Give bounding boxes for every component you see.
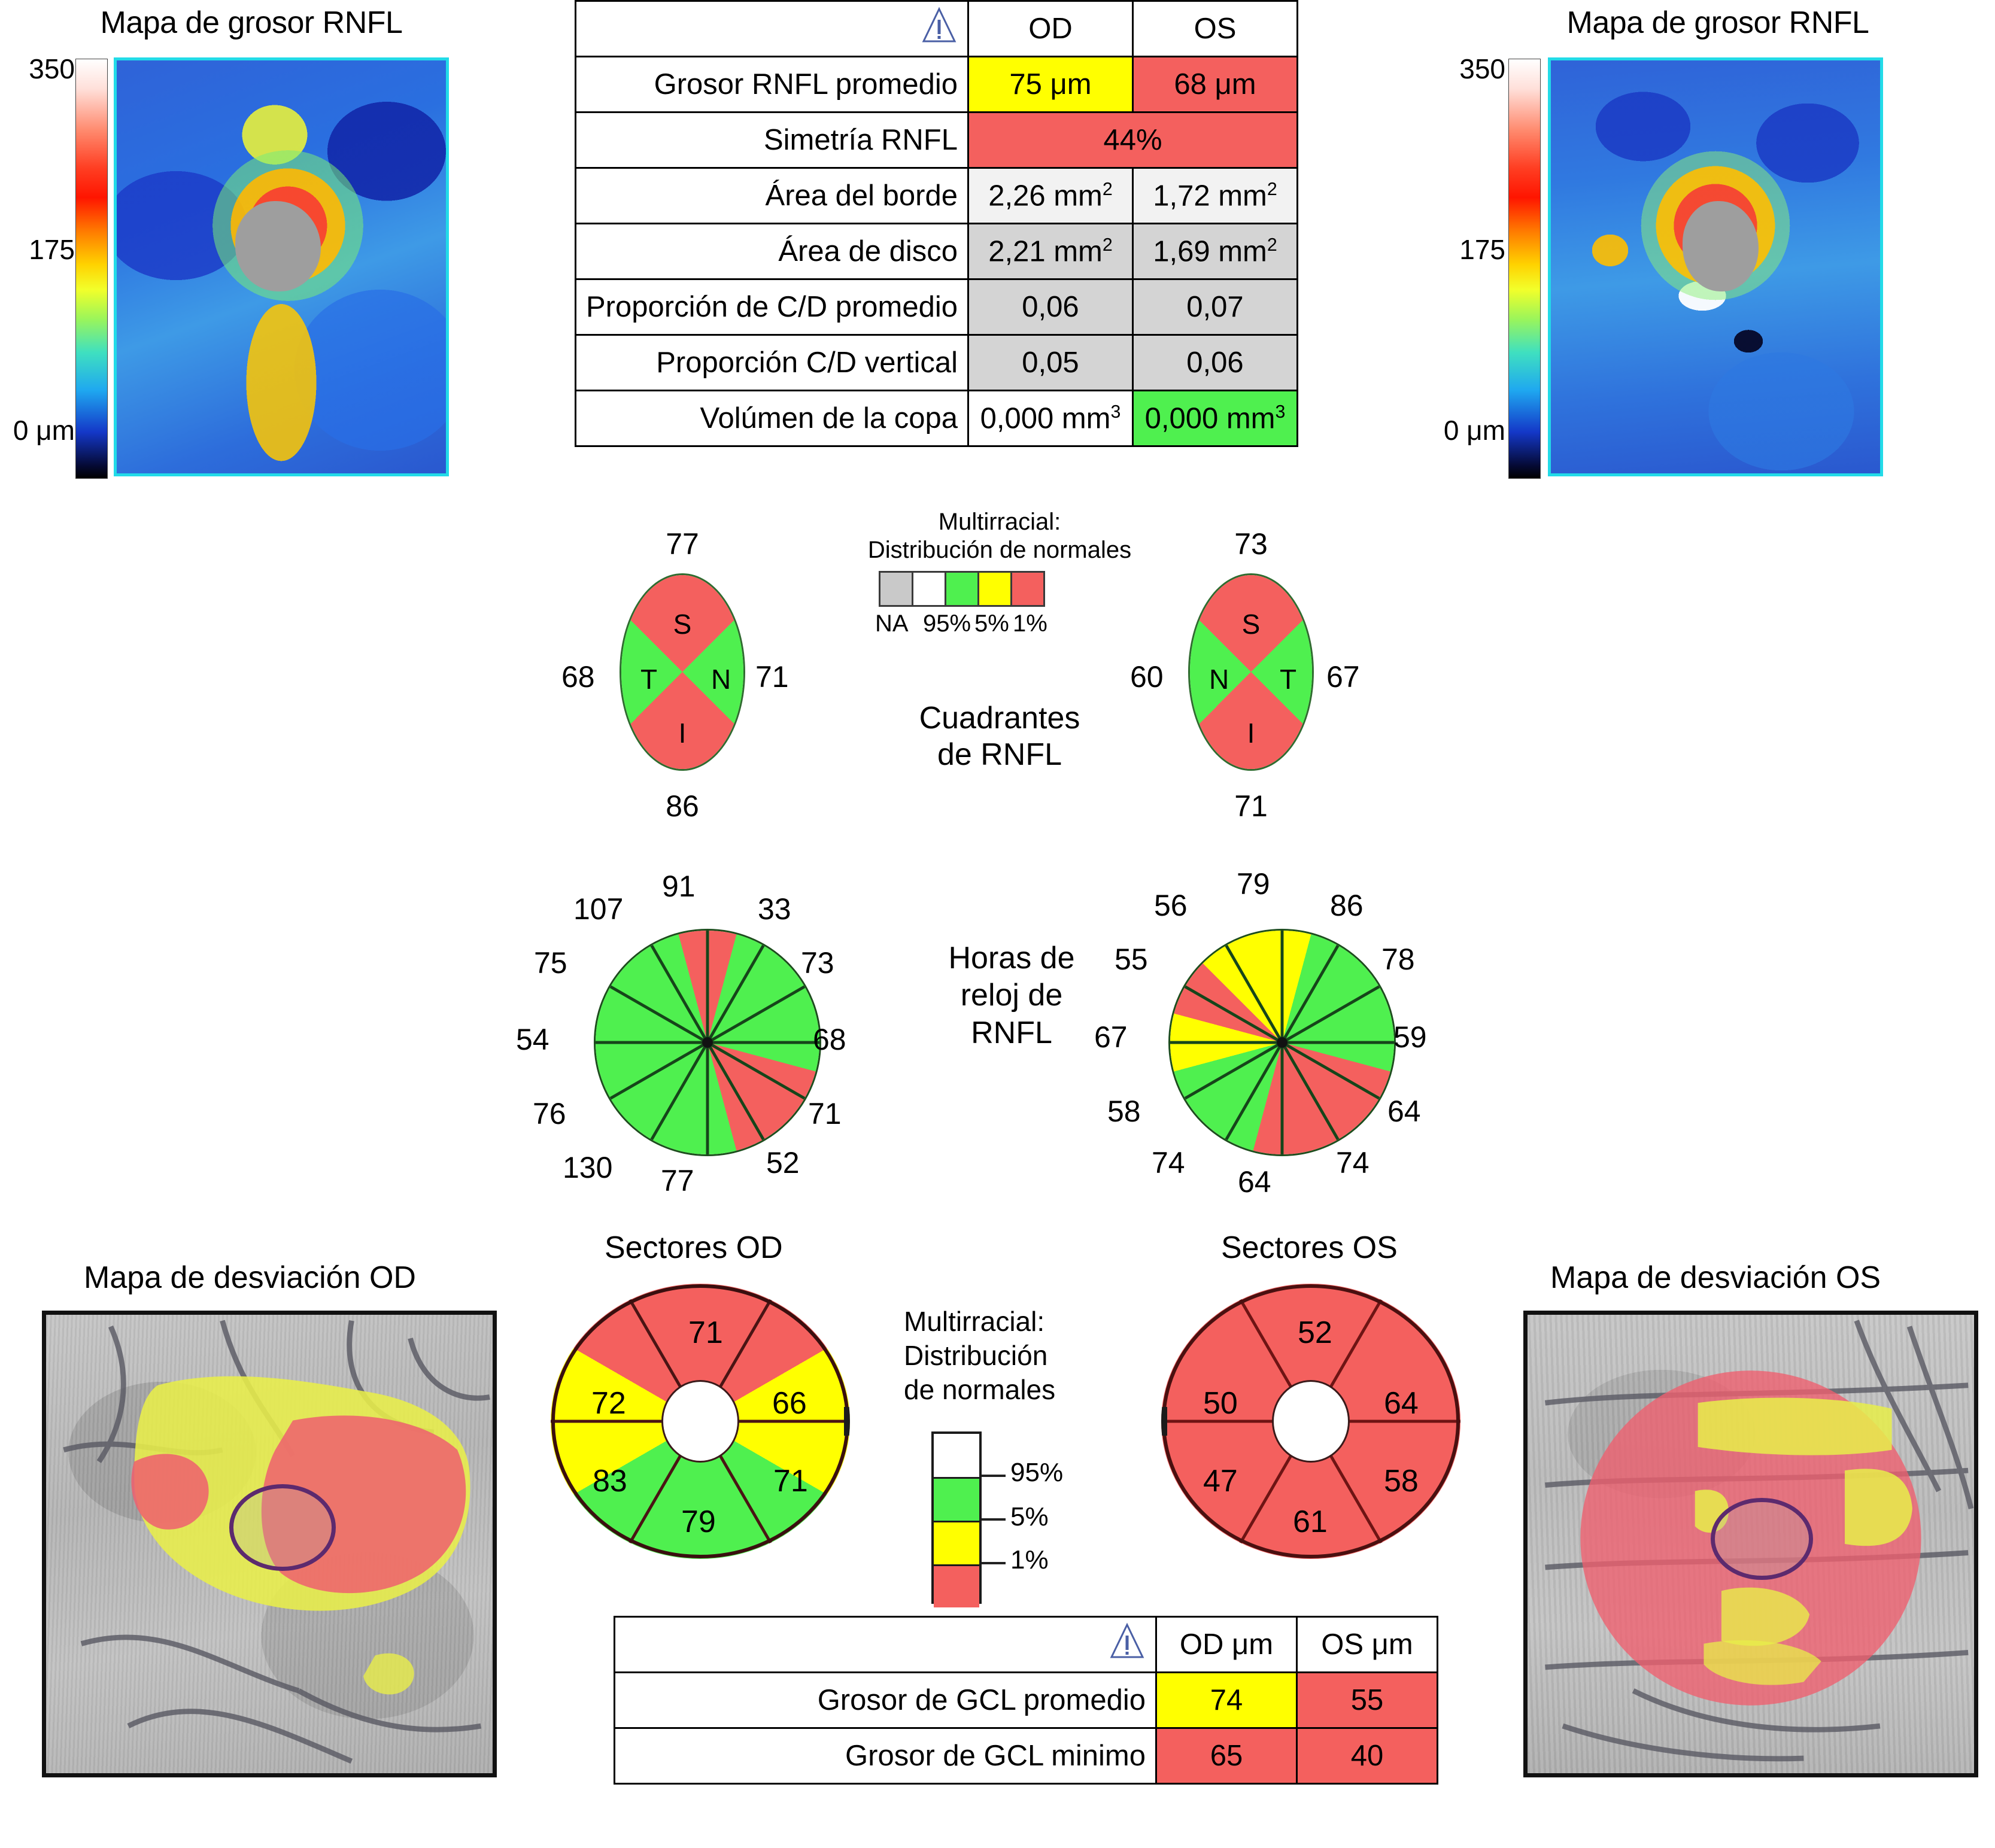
clock-title-line2: reloj de [898, 977, 1125, 1014]
quadrant-os-inferior-value: 71 [1125, 789, 1377, 823]
row-label-rim-area: Área del borde [576, 168, 968, 224]
quadrant-od-label-t: T [640, 663, 657, 695]
row-label-disc-area: Área de disco [576, 224, 968, 279]
table-row-rim-area: Área del borde 2,26 mm2 1,72 mm2 [576, 168, 1298, 224]
gcl-summary-table: OD μm OS μm Grosor de GCL promedio 74 55… [614, 1616, 1438, 1785]
normative-legend-top: Multirracial: Distribución de normales N… [850, 509, 1149, 642]
table-row-cd-avg: Proporción de C/D promedio 0,06 0,07 [576, 279, 1298, 335]
rnfl-thickness-map-od: Mapa de grosor RNFL 350 175 0 μm [0, 0, 503, 473]
clock-od-h7: 130 [563, 1150, 612, 1185]
clock-os-h9: 67 [1094, 1020, 1128, 1054]
deviation-od-disc-ellipse [229, 1484, 336, 1570]
gcl-summary-table-body: OD μm OS μm Grosor de GCL promedio 74 55… [615, 1617, 1438, 1784]
sectors-od-title: Sectores OD [605, 1230, 783, 1266]
legend-label-na: NA [875, 610, 909, 637]
legend-top-swatches [879, 571, 1149, 607]
quadrants-title: Cuadrantes de RNFL [868, 700, 1131, 774]
cell-cd-avg-os: 0,07 [1132, 279, 1297, 335]
warning-triangle-icon [1109, 1622, 1146, 1659]
table-row-disc-area: Área de disco 2,21 mm2 1,69 mm2 [576, 224, 1298, 279]
cell-disc-area-od: 2,21 mm2 [968, 224, 1132, 279]
sectors-od-supero-nasal-value: 66 [772, 1385, 807, 1421]
clock-os-h10: 55 [1115, 942, 1148, 977]
quadrant-od-label-i: I [557, 717, 808, 749]
legend-top-labels: NA 95% 5% 1% [850, 610, 1149, 642]
quadrant-od-inferior-value: 86 [557, 789, 808, 823]
legend-sectors-swatch-white [934, 1434, 979, 1479]
table-row-rnfl-avg: Grosor RNFL promedio 75 μm 68 μm [576, 57, 1298, 113]
cup-volume-os-sup: 3 [1275, 402, 1285, 422]
rnfl-os-scale-bottom: 0 μm [1431, 414, 1505, 446]
rnfl-os-optic-disc [1683, 201, 1759, 292]
rnfl-os-colorbar [1508, 59, 1541, 479]
clock-od-h6: 77 [661, 1163, 694, 1198]
legend-sectors-label-95: 95% [1010, 1458, 1063, 1488]
gcl-row-avg: Grosor de GCL promedio 74 55 [615, 1673, 1438, 1728]
rim-area-od-sup: 2 [1103, 179, 1113, 199]
gcl-header-row: OD μm OS μm [615, 1617, 1438, 1673]
sectors-os-title: Sectores OS [1221, 1230, 1398, 1266]
gcl-row-label-avg: Grosor de GCL promedio [615, 1673, 1156, 1728]
clock-os-h7: 74 [1152, 1145, 1185, 1180]
clock-os-h6: 64 [1238, 1165, 1271, 1199]
rnfl-summary-table: OD OS Grosor RNFL promedio 75 μm 68 μm S… [575, 0, 1298, 447]
clock-od-h12: 91 [662, 869, 696, 904]
cell-rnfl-symmetry: 44% [968, 113, 1297, 168]
rim-area-os-sup: 2 [1267, 179, 1277, 199]
deviation-map-os-image [1523, 1311, 1978, 1777]
cell-cup-volume-os: 0,000 mm3 [1132, 391, 1297, 446]
quadrant-od-temporal-value: 68 [561, 659, 595, 694]
clock-os-h5: 74 [1336, 1145, 1370, 1180]
quadrant-od-superior-value: 77 [557, 527, 808, 561]
rnfl-os-scale-top: 350 [1431, 53, 1505, 85]
rnfl-os-image [1548, 57, 1883, 476]
rnfl-od-scale-top: 350 [0, 53, 75, 85]
table-row-cd-vertical: Proporción C/D vertical 0,05 0,06 [576, 335, 1298, 391]
clock-hours-chart-od: 91 107 33 75 73 54 68 76 71 130 77 52 [527, 862, 862, 1161]
clock-od-h11: 107 [573, 892, 623, 926]
sectors-od-superior-value: 71 [688, 1315, 723, 1351]
legend-swatch-red [1010, 571, 1045, 607]
rnfl-od-image [114, 57, 449, 476]
disc-area-os-sup: 2 [1267, 235, 1277, 255]
sectors-os-center-hole [1272, 1380, 1350, 1463]
clock-os-h3: 59 [1393, 1020, 1427, 1054]
clock-os-h1: 86 [1330, 888, 1364, 923]
rnfl-od-scale-mid: 175 [0, 233, 75, 266]
gcl-warning-triangle-cell [615, 1617, 1156, 1673]
clock-os-h11: 56 [1154, 888, 1188, 923]
clock-od-h3: 68 [813, 1022, 846, 1057]
sectors-os-supero-temporal-value: 64 [1384, 1385, 1419, 1421]
quadrant-od-label-n: N [711, 663, 731, 695]
rim-area-os-value: 1,72 mm [1153, 180, 1267, 212]
sectors-chart-od: 71 66 71 79 83 72 [527, 1284, 874, 1571]
rnfl-map-od-title: Mapa de grosor RNFL [0, 5, 503, 41]
disc-area-od-sup: 2 [1103, 235, 1113, 255]
legend-sectors-title-line2: Distribución [904, 1339, 1143, 1373]
cell-disc-area-os: 1,69 mm2 [1132, 224, 1297, 279]
rim-area-od-value: 2,26 mm [988, 180, 1103, 212]
clock-os-h12: 79 [1237, 867, 1270, 901]
legend-sectors-label-5: 5% [1010, 1502, 1049, 1532]
cell-cd-vertical-od: 0,05 [968, 335, 1132, 391]
disc-area-os-value: 1,69 mm [1153, 235, 1267, 268]
clock-od-h2: 73 [801, 946, 834, 980]
cell-rim-area-os: 1,72 mm2 [1132, 168, 1297, 224]
legend-swatch-green [945, 571, 979, 607]
legend-sectors-title-line1: Multirracial: [904, 1305, 1143, 1339]
deviation-map-od-title: Mapa de desviación OD [84, 1260, 416, 1296]
clock-hours-title: Horas de reloj de RNFL [898, 940, 1125, 1051]
warning-triangle-cell [576, 1, 968, 57]
legend-label-95: 95% [923, 610, 971, 637]
deviation-map-od-image [42, 1311, 497, 1777]
cell-cd-vertical-os: 0,06 [1132, 335, 1297, 391]
gcl-cell-avg-od: 74 [1156, 1673, 1297, 1728]
sectors-os-superior-value: 52 [1298, 1315, 1332, 1351]
legend-label-1: 1% [1013, 610, 1047, 637]
rnfl-thickness-map-os: Mapa de grosor RNFL 350 175 0 μm [1431, 0, 1969, 473]
gcl-cell-avg-os: 55 [1297, 1673, 1438, 1728]
quadrant-os-nasal-value: 60 [1130, 659, 1164, 694]
rnfl-map-os-title: Mapa de grosor RNFL [1466, 5, 1969, 41]
sectors-os-infero-nasal-value: 47 [1203, 1463, 1238, 1499]
legend-swatch-white [912, 571, 946, 607]
table-row-rnfl-symmetry: Simetría RNFL 44% [576, 113, 1298, 168]
legend-sectors-swatch-green [934, 1479, 979, 1522]
row-label-cd-avg: Proporción de C/D promedio [576, 279, 968, 335]
quadrant-os-label-t: T [1280, 663, 1296, 695]
quadrant-os-label-n: N [1209, 663, 1229, 695]
row-label-cup-volume: Volúmen de la copa [576, 391, 968, 446]
cell-rim-area-od: 2,26 mm2 [968, 168, 1132, 224]
clock-os-h2: 78 [1381, 942, 1415, 977]
legend-top-title-line2: Distribución de normales [850, 537, 1149, 564]
cell-rnfl-avg-os: 68 μm [1132, 57, 1297, 113]
gcl-row-min: Grosor de GCL minimo 65 40 [615, 1728, 1438, 1784]
warning-triangle-icon [921, 7, 958, 44]
clock-od-pie [594, 929, 821, 1156]
rnfl-od-colorbar [75, 59, 108, 479]
sectors-od-center-hole [661, 1380, 739, 1463]
col-header-os: OS [1132, 1, 1297, 57]
legend-tick-1 [982, 1562, 1006, 1564]
sectors-od-infero-nasal-value: 71 [773, 1463, 808, 1499]
legend-tick-95 [982, 1475, 1006, 1477]
quadrant-od-nasal-value: 71 [755, 659, 789, 694]
sectors-chart-os: 52 64 58 61 47 50 [1137, 1284, 1484, 1571]
row-label-rnfl-avg: Grosor RNFL promedio [576, 57, 968, 113]
gcl-cell-min-od: 65 [1156, 1728, 1297, 1784]
legend-label-5: 5% [974, 610, 1009, 637]
legend-top-title-line1: Multirracial: [850, 509, 1149, 536]
quadrant-os-label-s: S [1125, 608, 1377, 640]
clock-od-spokes [596, 931, 819, 1154]
cup-volume-os-value: 0,000 mm [1145, 402, 1276, 434]
sectors-os-inferior-value: 61 [1293, 1504, 1328, 1540]
clock-title-line1: Horas de [898, 940, 1125, 977]
quadrant-chart-os: 73 S N T I 60 67 71 [1125, 527, 1377, 838]
legend-sectors-swatch-yellow [934, 1522, 979, 1566]
clock-od-h10: 75 [534, 946, 567, 980]
cup-volume-od-value: 0,000 mm [980, 402, 1111, 434]
sectors-od-supero-temporal-value: 72 [591, 1385, 626, 1421]
legend-sectors-swatch-red [934, 1566, 979, 1607]
rnfl-od-optic-disc [235, 201, 321, 292]
clock-od-h1: 33 [758, 892, 791, 926]
normative-legend-sectors: Multirracial: Distribución de normales 9… [904, 1305, 1143, 1604]
row-label-rnfl-symmetry: Simetría RNFL [576, 113, 968, 168]
deviation-os-disc-ellipse [1711, 1498, 1813, 1580]
rnfl-od-scale-bottom: 0 μm [0, 414, 75, 446]
legend-sectors-label-1: 1% [1010, 1545, 1049, 1575]
quadrant-os-superior-value: 73 [1125, 527, 1377, 561]
clock-od-h9: 54 [516, 1022, 549, 1057]
col-header-od: OD [968, 1, 1132, 57]
table-row-cup-volume: Volúmen de la copa 0,000 mm3 0,000 mm3 [576, 391, 1298, 446]
legend-sectors-bar [931, 1431, 982, 1604]
disc-area-od-value: 2,21 mm [988, 235, 1103, 268]
quadrant-od-label-s: S [557, 608, 808, 640]
quadrants-title-line2: de RNFL [868, 737, 1131, 773]
cell-cup-volume-od: 0,000 mm3 [968, 391, 1132, 446]
clock-hours-chart-os: 79 56 86 55 78 67 59 58 64 74 64 74 [1101, 862, 1437, 1161]
clock-os-pie [1168, 929, 1396, 1156]
clock-od-h5: 52 [766, 1145, 800, 1180]
sectors-os-supero-nasal-value: 50 [1203, 1385, 1238, 1421]
cell-rnfl-avg-od: 75 μm [968, 57, 1132, 113]
rnfl-os-scale-mid: 175 [1431, 233, 1505, 266]
legend-swatch-yellow [977, 571, 1012, 607]
row-label-cd-vertical: Proporción C/D vertical [576, 335, 968, 391]
legend-tick-5 [982, 1518, 1006, 1521]
gcl-col-header-os: OS μm [1297, 1617, 1438, 1673]
gcl-cell-min-os: 40 [1297, 1728, 1438, 1784]
clock-os-spokes [1170, 931, 1394, 1154]
cup-volume-od-sup: 3 [1110, 402, 1121, 422]
clock-os-h4: 64 [1387, 1094, 1421, 1129]
quadrant-os-label-i: I [1125, 717, 1377, 749]
cell-cd-avg-od: 0,06 [968, 279, 1132, 335]
sectors-od-inferior-value: 79 [681, 1504, 716, 1540]
sectors-od-infero-temporal-value: 83 [593, 1463, 627, 1499]
legend-sectors-title: Multirracial: Distribución de normales [904, 1305, 1143, 1407]
gcl-col-header-od: OD μm [1156, 1617, 1297, 1673]
clock-os-h8: 58 [1107, 1094, 1141, 1129]
clock-od-h8: 76 [533, 1096, 566, 1131]
legend-sectors-title-line3: de normales [904, 1373, 1143, 1407]
quadrant-os-temporal-value: 67 [1326, 659, 1360, 694]
table-header-row: OD OS [576, 1, 1298, 57]
legend-swatch-na [879, 571, 913, 607]
quadrant-chart-od: 77 S T N I 68 71 86 [557, 527, 808, 838]
sectors-os-infero-temporal-value: 58 [1384, 1463, 1419, 1499]
rnfl-summary-table-body: OD OS Grosor RNFL promedio 75 μm 68 μm S… [576, 1, 1298, 446]
clock-od-h4: 71 [808, 1096, 842, 1131]
quadrants-title-line1: Cuadrantes [868, 700, 1131, 737]
gcl-row-label-min: Grosor de GCL minimo [615, 1728, 1156, 1784]
clock-title-line3: RNFL [898, 1014, 1125, 1051]
deviation-map-os-title: Mapa de desviación OS [1550, 1260, 1881, 1296]
